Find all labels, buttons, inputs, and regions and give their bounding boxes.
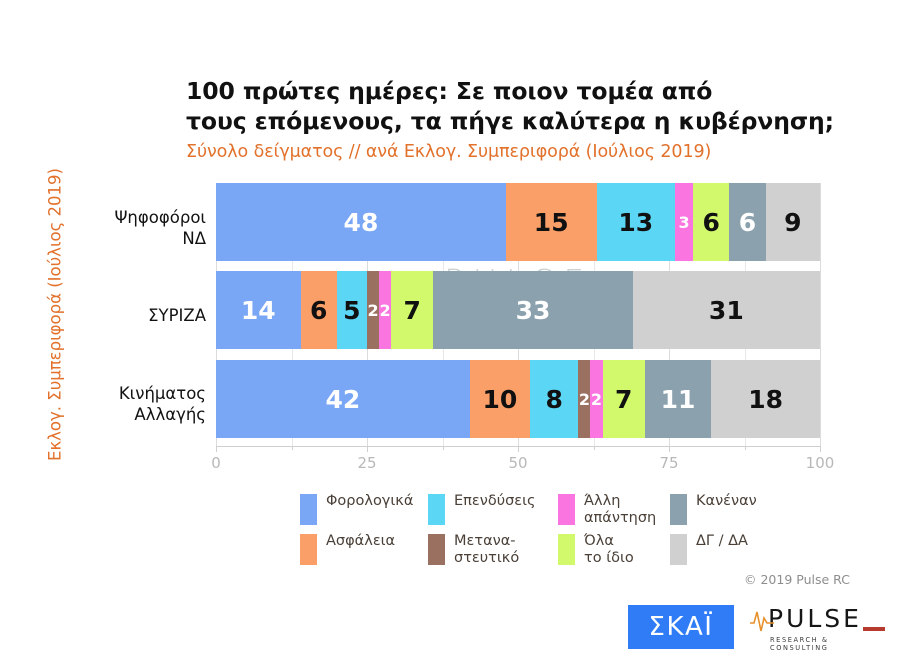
- chart-plot-area: PULSE RESEARCH & CONSULTING 481513366914…: [216, 183, 820, 446]
- bar-value-label: 33: [516, 296, 551, 325]
- legend-swatch: [558, 494, 575, 525]
- category-label-line-2: Αλλαγής: [26, 404, 206, 425]
- category-axis-labels: ΨηφοφόροιΝΔΣΥΡΙΖΑΚινήματοςΑλλαγής: [20, 183, 206, 446]
- bar-value-label: 15: [534, 208, 569, 237]
- bar-value-label: 6: [739, 208, 756, 237]
- legend-label-line-1: Κανέναν: [696, 493, 757, 509]
- bar-value-label: 2: [579, 390, 590, 409]
- legend-label: Φορολογικά: [326, 492, 413, 510]
- bar-value-label: 5: [343, 296, 360, 325]
- legend-swatch: [428, 534, 445, 565]
- legend-label-line-2: στευτικό: [454, 550, 519, 567]
- x-tick-label: 75: [659, 454, 678, 472]
- bar-segment[interactable]: 33: [433, 271, 632, 349]
- legend-item[interactable]: Ασφάλεια: [300, 532, 428, 572]
- x-tick-minor: [292, 446, 293, 450]
- legend-item[interactable]: ΔΓ / ΔΑ: [670, 532, 770, 572]
- skai-logo-text: ΣΚΑΪ: [649, 612, 714, 642]
- pulse-logo-tagline: RESEARCH & CONSULTING: [770, 636, 890, 652]
- legend-label-line-2: απάντηση: [584, 510, 656, 527]
- bar-value-label: 13: [618, 208, 653, 237]
- category-label-line-1: Ψηφοφόροι: [26, 207, 206, 228]
- x-tick-label: 50: [508, 454, 527, 472]
- bar-segment[interactable]: 14: [216, 271, 301, 349]
- bar-segment[interactable]: 7: [391, 271, 433, 349]
- legend-label: Κανέναν: [696, 492, 757, 510]
- bar-segment[interactable]: 6: [693, 183, 729, 261]
- x-tick-minor: [745, 446, 746, 450]
- legend-item[interactable]: Άλληαπάντηση: [558, 492, 670, 532]
- bar-segment[interactable]: 18: [711, 360, 820, 438]
- x-tick-label: 0: [211, 454, 221, 472]
- bar-segment[interactable]: 13: [597, 183, 676, 261]
- pulse-logo: PULSE RESEARCH & CONSULTING: [750, 605, 890, 651]
- category-label: ΚινήματοςΑλλαγής: [26, 383, 206, 425]
- bar-segment[interactable]: 6: [301, 271, 337, 349]
- legend-label-line-1: Ασφάλεια: [326, 533, 395, 549]
- category-label-line-1: Κινήματος: [26, 383, 206, 404]
- bar-value-label: 6: [310, 296, 327, 325]
- legend-label-line-1: Άλλη: [584, 493, 620, 509]
- bar-segment[interactable]: 9: [766, 183, 820, 261]
- bar-value-label: 31: [709, 296, 744, 325]
- bar-segment[interactable]: 8: [530, 360, 578, 438]
- category-label: ΨηφοφόροιΝΔ: [26, 207, 206, 249]
- legend-label-line-1: ΔΓ / ΔΑ: [696, 533, 748, 549]
- skai-logo: ΣΚΑΪ: [628, 605, 734, 649]
- legend-label: Όλατο ίδιο: [584, 532, 634, 566]
- page-subtitle: Σύνολο δείγματος // ανά Εκλογ. Συμπεριφο…: [186, 139, 846, 165]
- legend-label: Μετανα-στευτικό: [454, 532, 519, 566]
- bar-value-label: 9: [784, 208, 801, 237]
- bar-value-label: 3: [679, 213, 690, 232]
- bar-value-label: 2: [380, 301, 391, 320]
- legend-item[interactable]: Επενδύσεις: [428, 492, 558, 532]
- bar-value-label: 6: [703, 208, 720, 237]
- x-tick-minor: [594, 446, 595, 450]
- bar-value-label: 18: [748, 385, 783, 414]
- legend-label: Επενδύσεις: [454, 492, 536, 510]
- bar-segment[interactable]: 2: [367, 271, 379, 349]
- x-tick: [518, 446, 519, 452]
- pulse-wave-icon: [750, 609, 774, 633]
- bar-row: 421082271118: [216, 360, 820, 438]
- legend-label-line-2: το ίδιο: [584, 550, 634, 567]
- bar-segment[interactable]: 15: [506, 183, 597, 261]
- legend-item[interactable]: Φορολογικά: [300, 492, 428, 532]
- legend-label: ΔΓ / ΔΑ: [696, 532, 748, 550]
- bar-segment[interactable]: 6: [729, 183, 765, 261]
- copyright-text: © 2019 Pulse RC: [744, 572, 850, 587]
- pulse-logo-accent-bar: [863, 627, 885, 631]
- bar-segment[interactable]: 11: [645, 360, 711, 438]
- legend-label: Άλληαπάντηση: [584, 492, 656, 526]
- legend-item[interactable]: Κανέναν: [670, 492, 770, 532]
- title-block: 100 πρώτες ημέρες: Σε ποιον τομέα από το…: [186, 76, 846, 165]
- bar-segment[interactable]: 10: [470, 360, 530, 438]
- bar-value-label: 42: [325, 385, 360, 414]
- bar-segment[interactable]: 2: [379, 271, 391, 349]
- bar-segment[interactable]: 42: [216, 360, 470, 438]
- bar-segment[interactable]: 31: [633, 271, 820, 349]
- bar-value-label: 11: [661, 385, 696, 414]
- x-tick: [216, 446, 217, 452]
- x-tick: [820, 446, 821, 452]
- bar-value-label: 14: [241, 296, 276, 325]
- bar-value-label: 2: [367, 301, 378, 320]
- x-tick-label: 25: [357, 454, 376, 472]
- legend-label-line-1: Φορολογικά: [326, 493, 413, 509]
- bar-segment[interactable]: 2: [590, 360, 602, 438]
- category-label-line-1: ΣΥΡΙΖΑ: [26, 305, 206, 326]
- legend-swatch: [670, 534, 687, 565]
- legend-label: Ασφάλεια: [326, 532, 395, 550]
- category-label: ΣΥΡΙΖΑ: [26, 305, 206, 326]
- legend-swatch: [300, 494, 317, 525]
- footer-logos: ΣΚΑΪ PULSE RESEARCH & CONSULTING: [628, 605, 890, 655]
- legend-swatch: [558, 534, 575, 565]
- bar-value-label: 8: [546, 385, 563, 414]
- legend-item[interactable]: Όλατο ίδιο: [558, 532, 670, 572]
- legend-label-line-1: Μετανα-: [454, 533, 516, 549]
- bar-value-label: 7: [615, 385, 632, 414]
- x-tick-minor: [443, 446, 444, 450]
- legend-label-line-1: Επενδύσεις: [454, 493, 536, 509]
- legend-swatch: [670, 494, 687, 525]
- bar-segment[interactable]: 2: [578, 360, 590, 438]
- bar-row: 14652273331: [216, 271, 820, 349]
- bar-value-label: 10: [482, 385, 517, 414]
- chart-legend: ΦορολογικάΕπενδύσειςΆλληαπάντησηΚανένανΑ…: [300, 492, 770, 570]
- x-tick-label: 100: [806, 454, 835, 472]
- legend-label-line-1: Όλα: [584, 533, 614, 549]
- bar-row: 4815133669: [216, 183, 820, 261]
- x-tick: [367, 446, 368, 452]
- bar-value-label: 2: [591, 390, 602, 409]
- legend-item[interactable]: Μετανα-στευτικό: [428, 532, 558, 572]
- x-tick: [669, 446, 670, 452]
- category-label-line-2: ΝΔ: [26, 228, 206, 249]
- bar-value-label: 7: [404, 296, 421, 325]
- bar-segment[interactable]: 3: [675, 183, 693, 261]
- legend-swatch: [300, 534, 317, 565]
- bar-segment[interactable]: 5: [337, 271, 367, 349]
- page-title-line-1: 100 πρώτες ημέρες: Σε ποιον τομέα από: [186, 76, 846, 106]
- bar-segment[interactable]: 48: [216, 183, 506, 261]
- page-title-line-2: τους επόμενους, τα πήγε καλύτερα η κυβέρ…: [186, 106, 846, 136]
- bar-value-label: 48: [344, 208, 379, 237]
- bar-segment[interactable]: 7: [603, 360, 645, 438]
- legend-swatch: [428, 494, 445, 525]
- x-axis: 0255075100: [216, 446, 820, 476]
